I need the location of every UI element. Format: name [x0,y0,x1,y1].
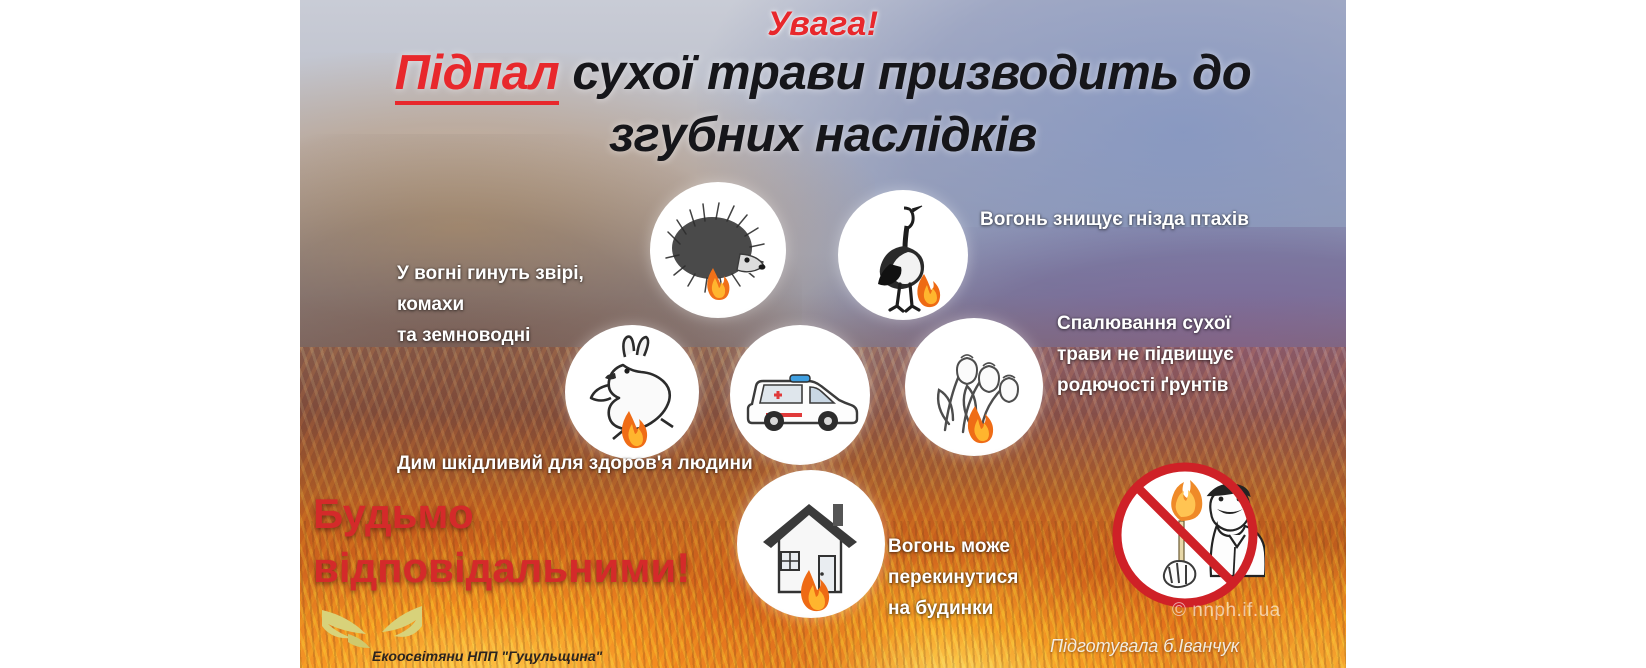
hedgehog-with-flame-icon [650,182,786,318]
ambulance-van-icon [730,325,870,465]
headline-line-two: згубних наслідків [609,108,1037,162]
caption-animals: У вогні гинуть звірі, комахи та земновод… [397,258,637,351]
site-watermark: © nnph.if.ua [1172,600,1281,622]
no-open-flame-sign-icon [1105,455,1265,615]
right-white-margin [1346,0,1646,668]
caption-birds: Вогонь знищує гнізда птахів [980,204,1280,235]
headline-rest: сухої трави призводить до [559,46,1251,100]
caption-smoke: Дим шкідливий для здоров'я людини [397,448,817,479]
ambulance-badge [730,325,870,465]
snowdrops-badge [905,318,1043,456]
call-to-action: Будьмо відповідальними! [313,487,743,595]
bird-badge [838,190,968,320]
left-white-margin [0,0,300,668]
credit-organization: Екоосвітяни НПП "Гуцульщина" [372,648,602,664]
caption-soil: Спалювання сухої трави не підвищує родюч… [1057,308,1307,401]
crane-bird-with-flame-icon [838,190,968,320]
headline-attention: Увага! [300,5,1346,44]
wings-logo-icon [318,600,428,652]
credit-author: Підготувала б.Іванчук [1050,636,1239,657]
caption-houses: Вогонь може перекинутися на будинки [888,531,1068,624]
poster-canvas: Увага! Підпал сухої трави призводить до … [0,0,1646,668]
flame-glyph [968,406,993,443]
house-with-flame-icon [737,470,885,618]
flame-glyph [917,274,940,307]
hedgehog-badge [650,182,786,318]
house-badge [737,470,885,618]
headline-main: Підпал сухої трави призводить до згубних… [300,42,1346,166]
snowdrop-flowers-with-flame-icon [905,318,1043,456]
headline-emphasis-word: Підпал [395,46,559,105]
